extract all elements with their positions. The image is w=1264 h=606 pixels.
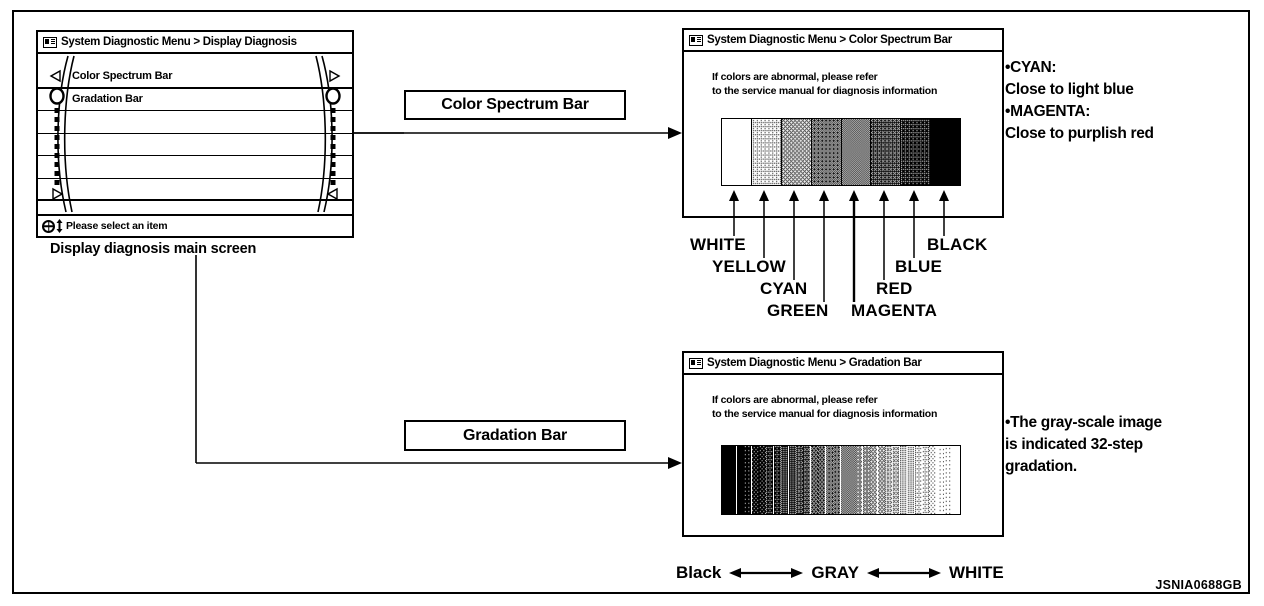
gradation-step-8	[774, 446, 781, 514]
double-arrow-icon-left	[729, 567, 803, 579]
callout-label: Gradation Bar	[463, 427, 567, 445]
gray-caption-middle: GRAY	[811, 563, 859, 583]
color-label-white: WHITE	[690, 235, 746, 255]
gradation-step-15	[826, 446, 833, 514]
spectrum-annotation: •CYAN: Close to light blue •MAGENTA: Clo…	[1005, 57, 1154, 145]
gradation-step-16	[833, 446, 840, 514]
menu-item-label: Gradation Bar	[72, 93, 143, 105]
annotation-line-3: •MAGENTA:	[1005, 101, 1154, 123]
menu-top-spacer	[38, 54, 352, 66]
gradation-step-6	[759, 446, 766, 514]
note-line-2: to the service manual for diagnosis info…	[712, 84, 937, 98]
annotation-line-1: •CYAN:	[1005, 57, 1154, 79]
spectrum-segment-yellow	[751, 119, 781, 185]
gradation-step-10	[789, 446, 796, 514]
spectrum-screen-note: If colors are abnormal, please refer to …	[712, 70, 937, 98]
gradation-step-14	[818, 446, 825, 514]
main-screen-title-text: System Diagnostic Menu > Display Diagnos…	[61, 36, 297, 48]
gradation-step-32	[952, 446, 959, 514]
gradation-annotation: •The gray-scale image is indicated 32-st…	[1005, 412, 1162, 478]
menu-item-empty-6[interactable]	[38, 179, 352, 202]
gradation-step-21	[870, 446, 877, 514]
callout-gradation-bar: Gradation Bar	[404, 420, 626, 451]
gradation-step-31	[944, 446, 951, 514]
spectrum-color-legend: WHITEYELLOWCYANGREENMAGENTAREDBLUEBLACK	[682, 232, 1022, 328]
spectrum-screen-title-text: System Diagnostic Menu > Color Spectrum …	[707, 34, 952, 46]
gray-scale-caption: Black GRAY WHITE	[676, 562, 1004, 584]
color-label-green: GREEN	[767, 301, 828, 321]
color-label-red: RED	[876, 279, 913, 299]
callout-color-spectrum-bar: Color Spectrum Bar	[404, 90, 626, 120]
gradation-bar-screen: System Diagnostic Menu > Gradation Bar I…	[682, 351, 1004, 537]
spectrum-screen-title-bar: System Diagnostic Menu > Color Spectrum …	[684, 30, 1002, 52]
gradation-step-28	[922, 446, 929, 514]
annotation-line-2: Close to light blue	[1005, 79, 1154, 101]
gradation-step-17	[841, 446, 848, 514]
gradation-step-29	[929, 446, 936, 514]
annotation-line-3: gradation.	[1005, 456, 1162, 478]
gradation-step-9	[781, 446, 788, 514]
note-line-2: to the service manual for diagnosis info…	[712, 407, 937, 421]
gradation-bar-graphic	[721, 445, 961, 515]
spectrum-segment-blue	[900, 119, 930, 185]
gradation-step-20	[863, 446, 870, 514]
gradation-step-25	[900, 446, 907, 514]
spectrum-segment-magenta	[841, 119, 871, 185]
up-down-arrow-icon	[56, 219, 63, 233]
gradation-step-26	[907, 446, 914, 514]
annotation-line-1: •The gray-scale image	[1005, 412, 1162, 434]
gradation-step-5	[752, 446, 759, 514]
gray-caption-right: WHITE	[949, 563, 1004, 583]
monitor-icon	[689, 35, 703, 46]
gradation-step-11	[796, 446, 803, 514]
spectrum-segment-black	[930, 119, 960, 185]
diagram-root: System Diagnostic Menu > Display Diagnos…	[0, 0, 1264, 606]
monitor-icon	[689, 358, 703, 369]
color-spectrum-bar-graphic	[721, 118, 961, 186]
main-screen-caption: Display diagnosis main screen	[50, 241, 256, 257]
double-arrow-icon-right	[867, 567, 941, 579]
color-label-yellow: YELLOW	[712, 257, 786, 277]
monitor-icon	[43, 37, 57, 48]
menu-item-color-spectrum-bar[interactable]: Color Spectrum Bar	[38, 66, 352, 89]
spectrum-segment-red	[870, 119, 900, 185]
gradation-step-4	[744, 446, 751, 514]
main-screen-title-bar: System Diagnostic Menu > Display Diagnos…	[38, 32, 352, 54]
gradation-step-7	[766, 446, 773, 514]
display-diagnosis-main-screen: System Diagnostic Menu > Display Diagnos…	[36, 30, 354, 238]
status-bar-text: Please select an item	[66, 220, 167, 232]
gradation-step-22	[878, 446, 885, 514]
gradation-step-24	[892, 446, 899, 514]
gradation-screen-title-bar: System Diagnostic Menu > Gradation Bar	[684, 353, 1002, 375]
spectrum-segment-green	[811, 119, 841, 185]
gray-caption-left: Black	[676, 563, 721, 583]
menu-item-label: Color Spectrum Bar	[72, 70, 172, 82]
gradation-step-19	[855, 446, 862, 514]
gradation-step-3	[737, 446, 744, 514]
gradation-step-30	[937, 446, 944, 514]
main-screen-status-bar: Please select an item	[38, 214, 352, 236]
callout-label: Color Spectrum Bar	[441, 96, 589, 114]
menu-item-empty-3[interactable]	[38, 111, 352, 134]
menu-item-empty-4[interactable]	[38, 134, 352, 157]
color-label-magenta: MAGENTA	[851, 301, 937, 321]
color-label-blue: BLUE	[895, 257, 942, 277]
gradation-screen-title-text: System Diagnostic Menu > Gradation Bar	[707, 357, 922, 369]
gradation-step-2	[729, 446, 736, 514]
gradation-step-18	[848, 446, 855, 514]
gradation-step-27	[915, 446, 922, 514]
note-line-1: If colors are abnormal, please refer	[712, 393, 937, 407]
gradation-step-1	[722, 446, 729, 514]
color-label-cyan: CYAN	[760, 279, 807, 299]
menu-rows: Color Spectrum Bar Gradation Bar	[38, 54, 352, 201]
gradation-step-12	[803, 446, 810, 514]
joystick-icon	[42, 220, 55, 233]
color-spectrum-bar-screen: System Diagnostic Menu > Color Spectrum …	[682, 28, 1004, 218]
spectrum-segment-white	[722, 119, 751, 185]
gradation-step-23	[885, 446, 892, 514]
spectrum-segment-cyan	[781, 119, 811, 185]
menu-item-empty-5[interactable]	[38, 156, 352, 179]
gradation-screen-note: If colors are abnormal, please refer to …	[712, 393, 937, 421]
menu-item-gradation-bar[interactable]: Gradation Bar	[38, 89, 352, 112]
annotation-line-4: Close to purplish red	[1005, 123, 1154, 145]
color-label-black: BLACK	[927, 235, 988, 255]
menu-list: Color Spectrum Bar Gradation Bar	[38, 54, 352, 214]
gradation-step-13	[811, 446, 818, 514]
note-line-1: If colors are abnormal, please refer	[712, 70, 937, 84]
annotation-line-2: is indicated 32-step	[1005, 434, 1162, 456]
figure-id-label: JSNIA0688GB	[1155, 578, 1242, 592]
